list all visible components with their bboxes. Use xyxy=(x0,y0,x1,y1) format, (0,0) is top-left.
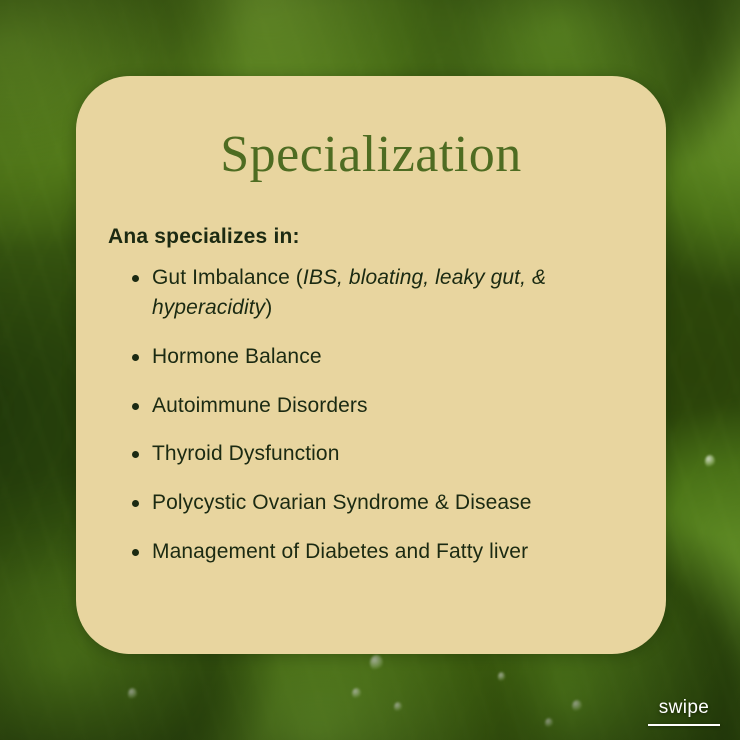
list-item-text: Thyroid Dysfunction xyxy=(152,442,339,465)
slide-canvas: Specialization Ana specializes in: Gut I… xyxy=(0,0,740,740)
list-item: Autoimmune Disorders xyxy=(108,391,640,421)
list-item-text: Gut Imbalance ( xyxy=(152,266,303,289)
lead-text: Ana specializes in: xyxy=(108,225,640,249)
list-item-text: Hormone Balance xyxy=(152,345,322,368)
swipe-underline-bar xyxy=(648,724,720,726)
list-item: Gut Imbalance (IBS, bloating, leaky gut,… xyxy=(108,263,640,323)
list-item: Polycystic Ovarian Syndrome & Disease xyxy=(108,488,640,518)
list-item: Management of Diabetes and Fatty liver xyxy=(108,537,640,567)
specialization-list: Gut Imbalance (IBS, bloating, leaky gut,… xyxy=(108,263,640,567)
list-item-text: Management of Diabetes and Fatty liver xyxy=(152,540,528,563)
content-card: Specialization Ana specializes in: Gut I… xyxy=(76,76,666,654)
list-item: Thyroid Dysfunction xyxy=(108,439,640,469)
card-body: Ana specializes in: Gut Imbalance (IBS, … xyxy=(76,183,666,567)
swipe-label: swipe xyxy=(646,697,722,719)
list-item-text-after: ) xyxy=(265,296,272,319)
page-title: Specialization xyxy=(76,76,666,183)
swipe-affordance[interactable]: swipe xyxy=(646,697,722,726)
list-item-text: Autoimmune Disorders xyxy=(152,394,368,417)
list-item: Hormone Balance xyxy=(108,342,640,372)
list-item-text: Polycystic Ovarian Syndrome & Disease xyxy=(152,491,532,514)
